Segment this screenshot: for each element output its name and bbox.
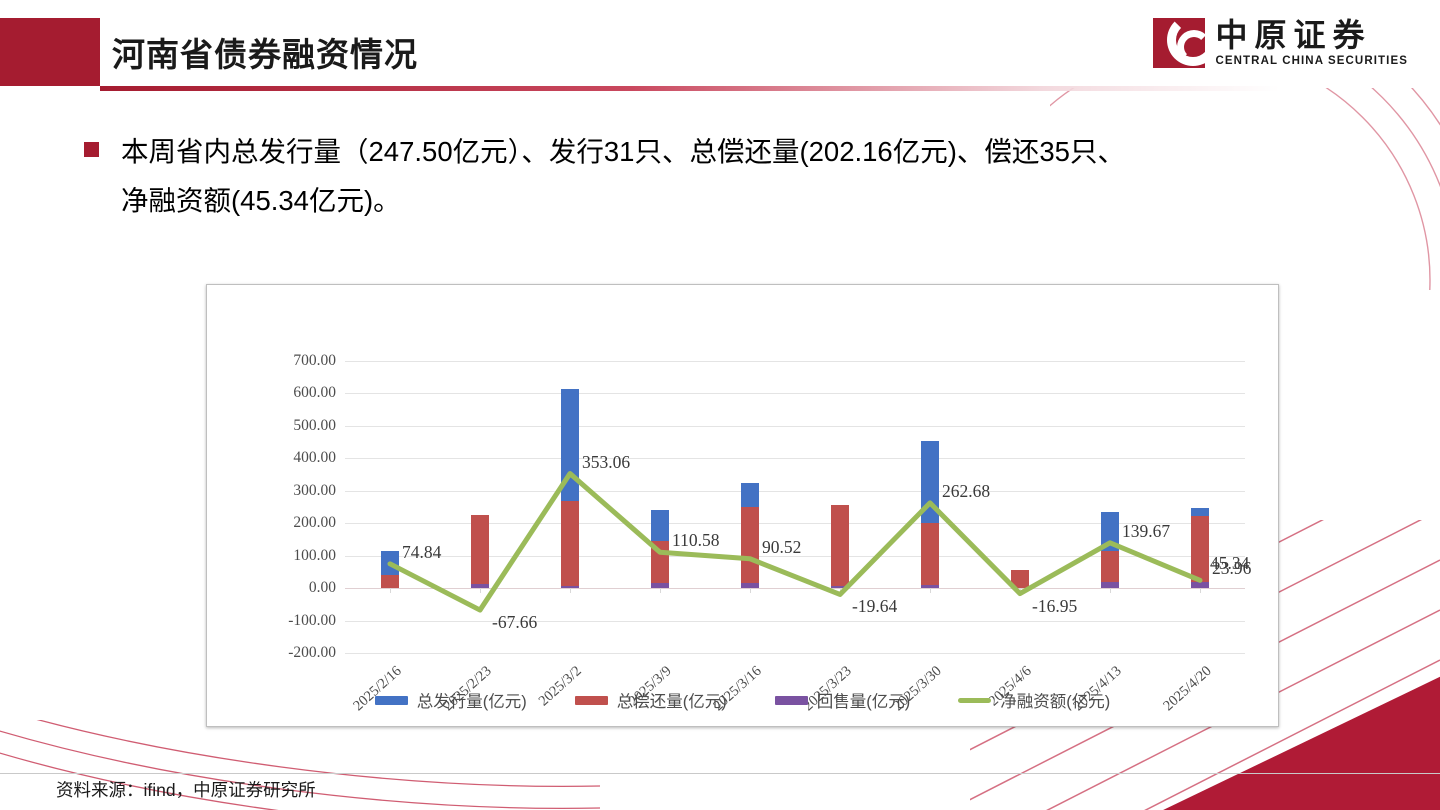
summary-line-1: 本周省内总发行量（247.50亿元）、发行31只、总偿还量(202.16亿元)、… — [121, 128, 1125, 177]
slide-root: 河南省债券融资情况 中原证券 CENTRAL CHINA SECURITIES … — [0, 0, 1440, 810]
data-point-label-final: 45.34 — [1210, 553, 1249, 574]
footer-divider — [0, 773, 1440, 774]
data-point-label: 74.84 — [402, 542, 441, 563]
legend-item[interactable]: 总发行量(亿元) — [375, 688, 527, 712]
y-axis-tick-label: 200.00 — [293, 514, 336, 532]
data-point-label: 90.52 — [762, 537, 801, 558]
data-point-label: 353.06 — [582, 452, 630, 473]
logo-mark-icon — [1153, 18, 1205, 68]
y-axis-tick-label: -200.00 — [288, 644, 336, 662]
data-point-label: 139.67 — [1122, 521, 1170, 542]
slide-header: 河南省债券融资情况 中原证券 CENTRAL CHINA SECURITIES — [0, 0, 1440, 88]
legend-swatch-icon — [958, 698, 991, 703]
y-axis-tick-label: 700.00 — [293, 352, 336, 370]
header-divider — [100, 86, 1280, 91]
header-accent-block — [0, 18, 100, 86]
y-axis-tick-label: 600.00 — [293, 384, 336, 402]
chart-plot: 700.00600.00500.00400.00300.00200.00100.… — [345, 361, 1245, 653]
legend-swatch-icon — [375, 696, 408, 705]
chart-legend: 总发行量(亿元)总偿还量(亿元)回售量(亿元)净融资额(亿元) — [207, 688, 1278, 712]
source-note: 资料来源：ifind，中原证券研究所 — [56, 777, 316, 802]
logo-english-name: CENTRAL CHINA SECURITIES — [1215, 55, 1408, 67]
summary-text: 本周省内总发行量（247.50亿元）、发行31只、总偿还量(202.16亿元)、… — [121, 128, 1125, 226]
data-point-label: 262.68 — [942, 481, 990, 502]
data-point-label: 110.58 — [672, 530, 719, 551]
y-axis-tick-label: 100.00 — [293, 547, 336, 565]
bullet-marker-icon — [84, 142, 99, 157]
legend-label: 总发行量(亿元) — [417, 688, 527, 712]
chart-card: 700.00600.00500.00400.00300.00200.00100.… — [206, 284, 1279, 727]
logo-chinese-name: 中原证券 — [1215, 19, 1408, 53]
data-point-label: -67.66 — [492, 612, 537, 633]
legend-swatch-icon — [575, 696, 608, 705]
data-point-label: -16.95 — [1032, 596, 1077, 617]
y-axis-tick-label: 500.00 — [293, 417, 336, 435]
legend-item[interactable]: 净融资额(亿元) — [958, 688, 1110, 712]
y-axis-tick-label: 300.00 — [293, 482, 336, 500]
legend-item[interactable]: 总偿还量(亿元) — [575, 688, 727, 712]
chart-area: 700.00600.00500.00400.00300.00200.00100.… — [207, 285, 1278, 726]
summary-bullet: 本周省内总发行量（247.50亿元）、发行31只、总偿还量(202.16亿元)、… — [84, 128, 1374, 226]
brand-logo: 中原证券 CENTRAL CHINA SECURITIES — [1153, 18, 1408, 68]
y-axis-tick-label: 400.00 — [293, 449, 336, 467]
legend-swatch-icon — [775, 696, 808, 705]
y-axis-tick-label: 0.00 — [309, 579, 336, 597]
data-point-label: -19.64 — [852, 596, 897, 617]
y-axis-tick-label: -100.00 — [288, 612, 336, 630]
page-title: 河南省债券融资情况 — [112, 28, 418, 76]
legend-label: 净融资额(亿元) — [1000, 688, 1110, 712]
legend-item[interactable]: 回售量(亿元) — [775, 688, 911, 712]
chart-gridline — [345, 653, 1245, 654]
legend-label: 总偿还量(亿元) — [617, 688, 727, 712]
summary-line-2: 净融资额(45.34亿元)。 — [121, 177, 1125, 226]
net-financing-line — [345, 361, 1245, 653]
legend-label: 回售量(亿元) — [817, 688, 911, 712]
